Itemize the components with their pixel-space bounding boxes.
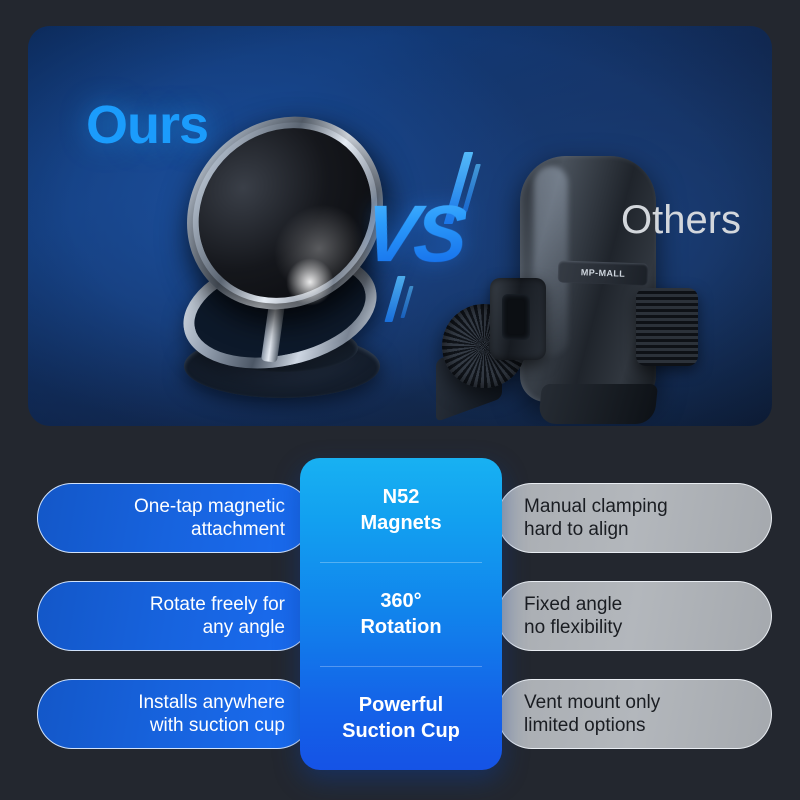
ours-benefit-line2: with suction cup bbox=[150, 714, 285, 737]
others-heading: Others bbox=[621, 198, 741, 243]
others-drawback-line2: hard to align bbox=[524, 518, 629, 541]
clamp-brand-label: MP-MALL bbox=[581, 267, 626, 279]
others-drawback-line2: limited options bbox=[524, 714, 645, 737]
vs-badge: VS bbox=[361, 150, 491, 325]
others-drawback-pill: Fixed angle no flexibility bbox=[497, 581, 772, 651]
feature-highlight-card: N52 Magnets 360° Rotation Powerful Sucti… bbox=[300, 458, 502, 770]
ours-benefit-line2: attachment bbox=[191, 518, 285, 541]
clamp-brand-badge: MP-MALL bbox=[558, 260, 649, 285]
others-drawback-line1: Vent mount only bbox=[524, 691, 660, 714]
ours-benefit-line1: Installs anywhere bbox=[138, 691, 285, 714]
ours-heading: Ours bbox=[86, 94, 208, 156]
ours-benefit-line2: any angle bbox=[203, 616, 285, 639]
vs-label: VS bbox=[361, 194, 468, 274]
feature-cell: N52 Magnets bbox=[300, 458, 502, 562]
feature-line2: Magnets bbox=[360, 510, 441, 536]
hero-comparison-banner: MP-MALL Ours Others VS bbox=[28, 26, 772, 426]
others-drawback-line2: no flexibility bbox=[524, 616, 622, 639]
others-drawback-pill: Vent mount only limited options bbox=[497, 679, 772, 749]
lightning-bolt-icon bbox=[400, 286, 413, 318]
feature-line2: Rotation bbox=[360, 614, 441, 640]
ours-benefit-pill: Rotate freely for any angle bbox=[37, 581, 312, 651]
feature-line1: 360° bbox=[380, 588, 421, 614]
others-drawback-pill: Manual clamping hard to align bbox=[497, 483, 772, 553]
others-drawback-line1: Fixed angle bbox=[524, 593, 622, 616]
feature-line2: Suction Cup bbox=[342, 718, 460, 744]
clamp-right-grip bbox=[636, 288, 698, 366]
clamp-foot bbox=[538, 384, 658, 424]
feature-line1: N52 bbox=[383, 484, 420, 510]
clamp-left-arm bbox=[490, 278, 546, 360]
ours-benefit-line1: Rotate freely for bbox=[150, 593, 285, 616]
ours-benefit-line1: One-tap magnetic bbox=[134, 495, 285, 518]
feature-cell: Powerful Suction Cup bbox=[300, 666, 502, 770]
feature-cell: 360° Rotation bbox=[300, 562, 502, 666]
ours-benefit-pill: Installs anywhere with suction cup bbox=[37, 679, 312, 749]
others-drawback-line1: Manual clamping bbox=[524, 495, 668, 518]
feature-line1: Powerful bbox=[359, 692, 443, 718]
comparison-table: One-tap magnetic attachment Manual clamp… bbox=[0, 444, 800, 784]
ours-benefit-pill: One-tap magnetic attachment bbox=[37, 483, 312, 553]
